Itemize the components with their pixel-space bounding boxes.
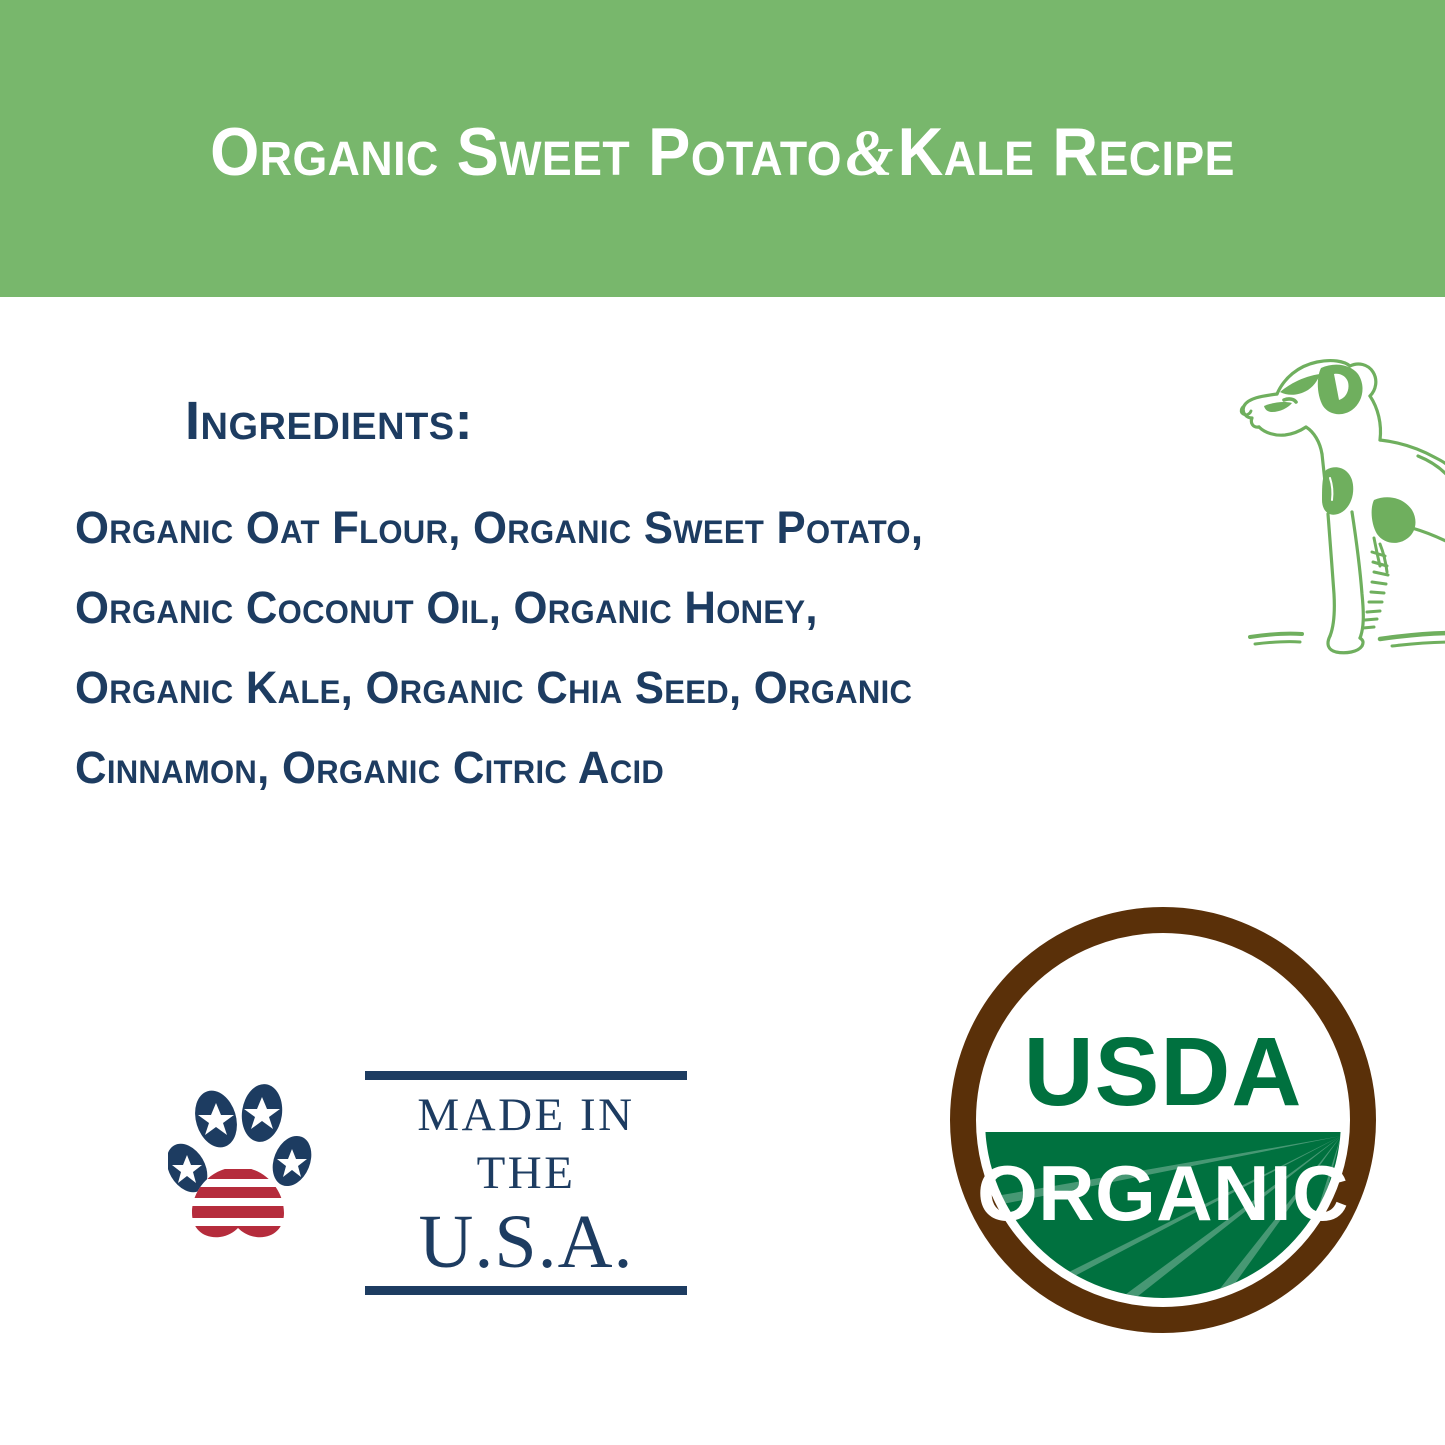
usa-text-block: MADE IN THE U.S.A. xyxy=(365,1071,687,1295)
usda-organic-seal: USDA ORGANIC xyxy=(943,900,1383,1340)
header-band: Organic Sweet Potato&Kale Recipe xyxy=(0,0,1445,297)
usda-seal-bottom-text: ORGANIC xyxy=(977,1149,1349,1237)
dog-illustration xyxy=(1222,332,1445,672)
product-title-part2: Kale Recipe xyxy=(898,114,1235,190)
ingredients-line: Organic Oat Flour, Organic Sweet Potato, xyxy=(75,488,1142,568)
usa-top-rule xyxy=(365,1071,687,1080)
made-in-the-label: MADE IN THE xyxy=(365,1080,687,1202)
ingredients-heading: Ingredients: xyxy=(185,390,1175,452)
ingredients-line: Organic Coconut Oil, Organic Honey, xyxy=(75,568,1142,648)
made-in-usa-badge: MADE IN THE U.S.A. xyxy=(168,1063,688,1243)
product-label-card: Organic Sweet Potato&Kale Recipe Ingredi… xyxy=(0,0,1445,1445)
ingredients-line: Cinnamon, Organic Citric Acid xyxy=(75,728,1142,808)
ingredients-section: Ingredients: Organic Oat Flour, Organic … xyxy=(75,390,1175,808)
usa-bottom-rule xyxy=(365,1286,687,1295)
usa-label: U.S.A. xyxy=(365,1202,687,1286)
american-flag-paw-print-icon xyxy=(168,1063,348,1243)
page-title: Organic Sweet Potato&Kale Recipe xyxy=(51,112,1395,194)
usda-seal-top-text: USDA xyxy=(1024,1017,1303,1126)
product-title-part1: Organic Sweet Potato xyxy=(210,114,842,190)
ingredients-line: Organic Kale, Organic Chia Seed, Organic xyxy=(75,648,1142,728)
ampersand-glyph: & xyxy=(842,117,898,190)
